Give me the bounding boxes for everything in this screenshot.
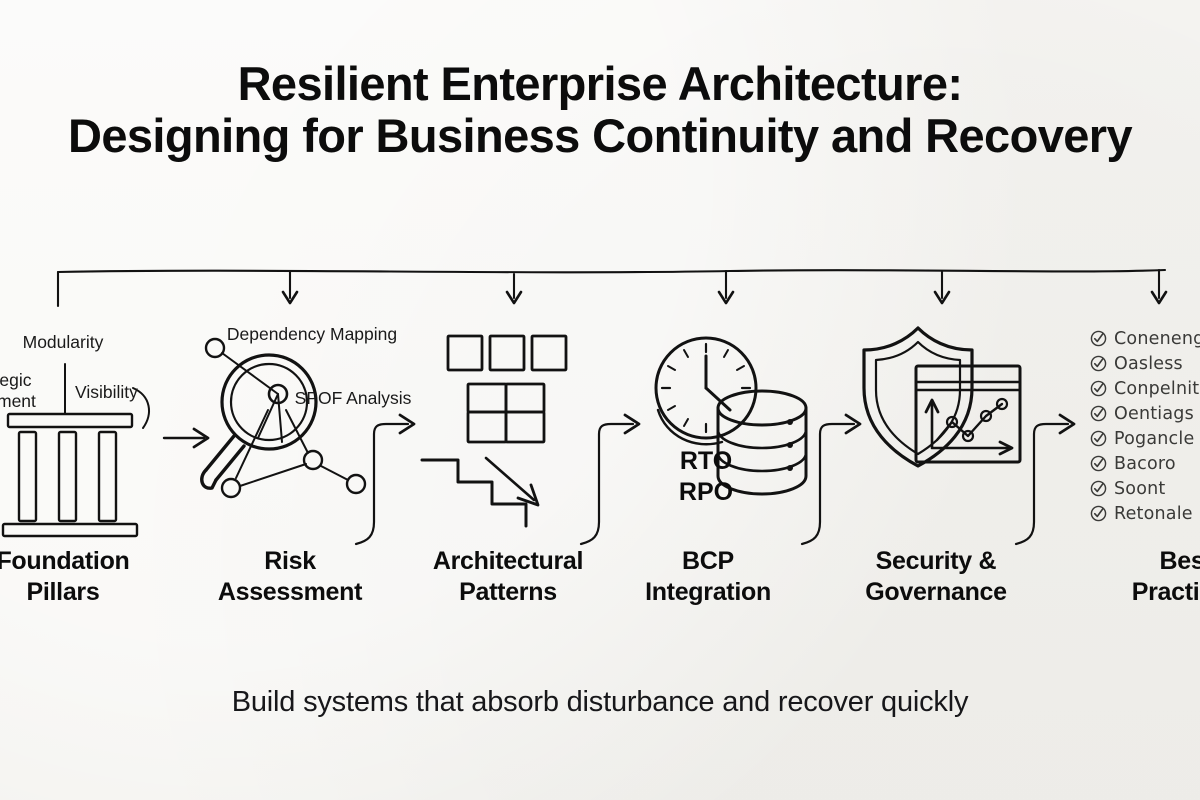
mini-label-dependency-mapping: Dependency Mapping [212, 324, 412, 344]
mini-label-spof-analysis: SPOF Analysis [288, 388, 418, 408]
checklist-item-label: Conpelnity [1114, 379, 1200, 399]
checklist-item[interactable]: Retonale [1090, 501, 1200, 526]
checklist-item[interactable]: Soont [1090, 476, 1200, 501]
stage-foundation-pillars[interactable]: Modularity Strategic Alignment Visibilit… [0, 318, 171, 628]
caption-line-2: Governance [828, 577, 1044, 608]
caption-line-1: Best [1160, 547, 1200, 575]
checklist-item-label: Oentiags [1114, 404, 1194, 424]
rail-drop-6 [1152, 270, 1166, 303]
caption-line-2: Patterns [400, 577, 616, 608]
caption-line-2: Integration [600, 577, 816, 608]
title-line-2: Designing for Business Continuity and Re… [0, 110, 1200, 162]
checklist-item-label: Coneneng [1114, 329, 1200, 349]
stage-caption-architectural-patterns: Architectural Patterns [400, 546, 616, 607]
checklist-item[interactable]: Conpelnity [1090, 376, 1200, 401]
rail-horizontal-line [58, 270, 1165, 272]
flow-rail [0, 250, 1200, 320]
caption-line-1: Security & [876, 547, 997, 575]
caption-line-1: Risk [264, 547, 316, 575]
check-circle-icon [1090, 480, 1107, 497]
checklist-item-label: Bacoro [1114, 454, 1176, 474]
caption-line-1: Architectural [433, 547, 583, 575]
checklist-item-label: Oasless [1114, 354, 1183, 374]
stage-caption-foundation-pillars: Foundation Pillars [0, 546, 171, 607]
mini-label-modularity: Modularity [0, 332, 163, 352]
checklist-item-label: Pogancle [1114, 429, 1194, 449]
checklist-item[interactable]: Bacoro [1090, 451, 1200, 476]
checklist-item-label: Retonale [1114, 504, 1193, 524]
rail-drop-2 [283, 271, 297, 303]
check-circle-icon [1090, 355, 1107, 372]
checklist-item[interactable]: Coneneng [1090, 326, 1200, 351]
check-circle-icon [1090, 330, 1107, 347]
checklist-item-label: Soont [1114, 479, 1165, 499]
caption-line-1: BCP [682, 547, 734, 575]
stage-caption-best-practices: Best Practices [1078, 546, 1200, 607]
stage-caption-security-governance: Security & Governance [828, 546, 1044, 607]
check-circle-icon [1090, 380, 1107, 397]
check-circle-icon [1090, 405, 1107, 422]
best-practices-checklist: Coneneng Oasless Conpelnity Oentiags Pog… [1090, 326, 1200, 526]
rail-drop-4 [719, 271, 733, 303]
checklist-item[interactable]: Oentiags [1090, 401, 1200, 426]
title-line-1: Resilient Enterprise Architecture: [0, 58, 1200, 110]
page-title: Resilient Enterprise Architecture: Desig… [0, 58, 1200, 161]
stage-caption-risk-assessment: Risk Assessment [182, 546, 398, 607]
mini-label-strategic-alignment: Strategic Alignment [0, 370, 57, 412]
check-circle-icon [1090, 430, 1107, 447]
caption-line-2: Practices [1078, 577, 1200, 608]
stage-caption-bcp-integration: BCP Integration [600, 546, 816, 607]
rail-drop-3 [507, 274, 521, 303]
label-rto: RTO [598, 446, 814, 477]
label-rpo: RPO [598, 477, 814, 508]
rail-drop-5 [935, 271, 949, 303]
check-circle-icon [1090, 455, 1107, 472]
checklist-item[interactable]: Oasless [1090, 351, 1200, 376]
caption-line-1: Foundation [0, 547, 130, 575]
checklist-item[interactable]: Pogancle [1090, 426, 1200, 451]
check-circle-icon [1090, 505, 1107, 522]
rto-rpo-labels: RTO RPO [598, 446, 814, 507]
mini-label-visibility: Visibility [75, 382, 195, 402]
footer-caption: Build systems that absorb disturbance an… [0, 686, 1200, 719]
caption-line-2: Assessment [182, 577, 398, 608]
caption-line-2: Pillars [0, 577, 171, 608]
